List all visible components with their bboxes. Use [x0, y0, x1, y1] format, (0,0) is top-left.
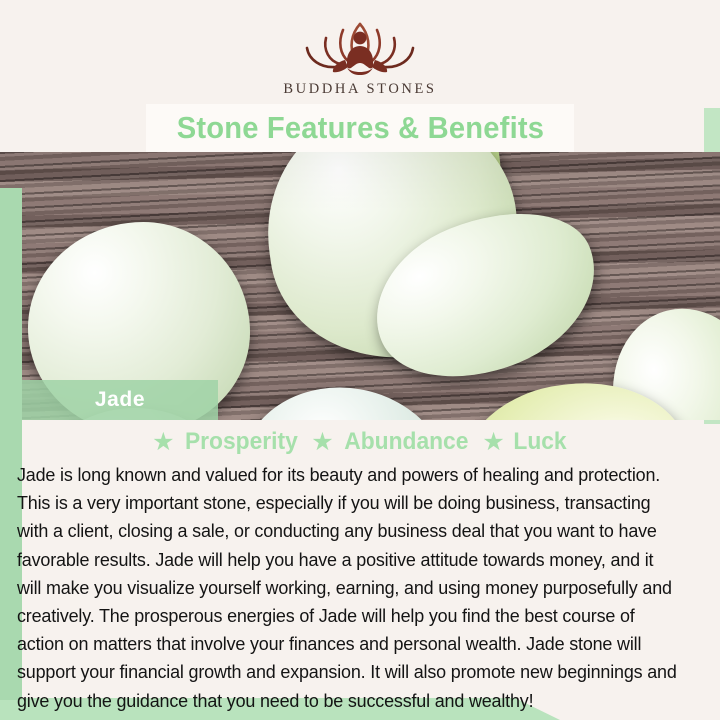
title-banner: Stone Features & Benefits [146, 104, 574, 152]
star-icon: ★ [311, 430, 333, 455]
keyword-label: Luck [513, 428, 566, 456]
keyword-item: ★ Abundance [311, 428, 471, 456]
star-icon: ★ [482, 430, 504, 455]
description-text: Jade is long known and valued for its be… [17, 461, 679, 715]
lotus-meditation-icon [285, 16, 435, 78]
keyword-item: ★ Luck [482, 428, 567, 456]
stone-name-bar: Jade [22, 380, 218, 420]
stone-feature-card: BUDDHA STONES Stone Features & Benefits … [0, 0, 720, 720]
keyword-label: Prosperity [185, 428, 298, 456]
page-title: Stone Features & Benefits [176, 110, 543, 146]
brand-name: BUDDHA STONES [283, 81, 436, 98]
brand-logo-block: BUDDHA STONES [0, 0, 720, 108]
keyword-row: ★ Prosperity ★ Abundance ★ Luck [0, 428, 720, 456]
star-icon: ★ [152, 430, 174, 455]
keyword-label: Abundance [344, 428, 468, 456]
keyword-item: ★ Prosperity [152, 428, 300, 456]
stone-name: Jade [95, 388, 145, 412]
